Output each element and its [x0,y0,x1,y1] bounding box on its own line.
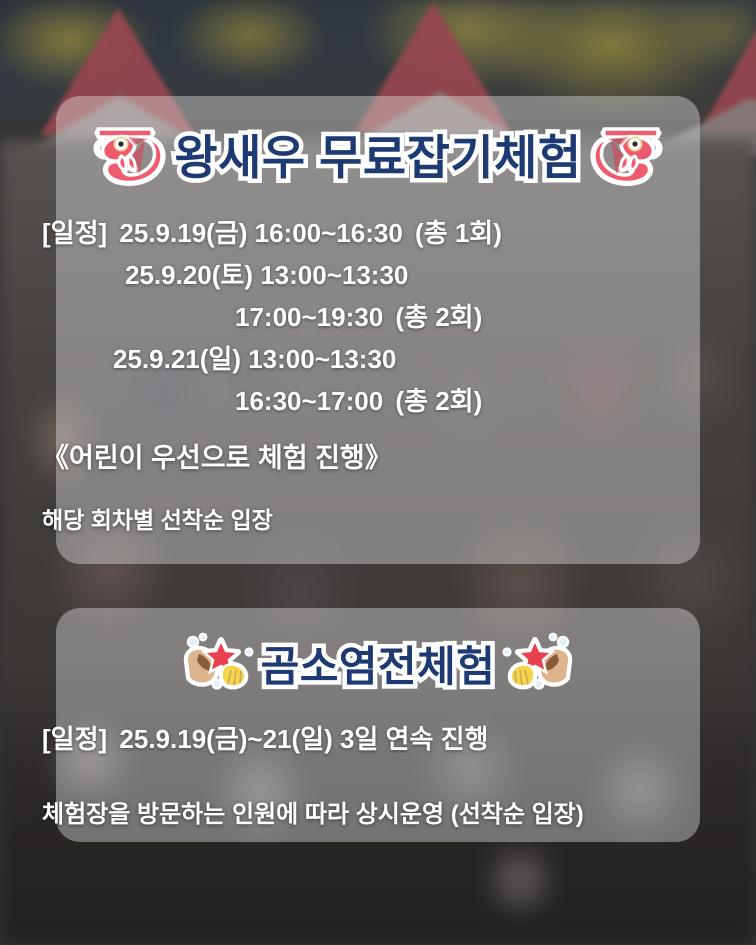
schedule-datetime: 25.9.19(금)~21(일) 3일 연속 진행 [114,724,493,754]
schedule-list-gomso-salt-farm: [일정] 25.9.19(금)~21(일) 3일 연속 진행 체험장을 방문하는… [0,718,756,829]
schedule-datetime: 17:00~19:30 [230,302,388,332]
schedule-label: [일정] [42,724,107,754]
schedule-datetime: 16:30~17:00 [230,386,388,416]
schedule-list-king-shrimp: [일정] 25.9.19(금) 16:00~16:30 (총 1회) 25.9.… [0,212,756,535]
section-note-priority: 《어린이 우선으로 체험 진행》 [0,422,756,475]
section-title-gomso-salt-farm: 곰소염전체험 [0,624,756,702]
shrimp-icon [584,115,668,191]
schedule-label: [일정] [42,218,107,248]
seashell-cluster-icon [497,630,575,696]
shrimp-icon [88,115,172,191]
schedule-line: 25.9.20(토) 13:00~13:30 [0,254,756,296]
schedule-line: [일정] 25.9.19(금) 16:00~16:30 (총 1회) [0,212,756,254]
section-note-entry: 해당 회차별 선착순 입장 [0,475,756,535]
schedule-count: (총 2회) [395,302,482,332]
seashell-cluster-icon [181,630,259,696]
schedule-line: 16:30~17:00 (총 2회) [0,380,756,422]
schedule-line: [일정] 25.9.19(금)~21(일) 3일 연속 진행 [0,718,756,760]
section-note-operation: 체험장을 방문하는 인원에 따라 상시운영 (선착순 입장) [0,760,756,829]
schedule-count: (총 2회) [395,386,482,416]
section-title-king-shrimp: 왕새우 무료잡기체험 [0,112,756,194]
section-title-text: 왕새우 무료잡기체험 [174,119,581,188]
section-title-text: 곰소염전체험 [261,633,496,694]
schedule-datetime: 25.9.19(금) 16:00~16:30 [114,218,407,248]
schedule-count: (총 1회) [415,218,502,248]
schedule-datetime: 25.9.21(일) 13:00~13:30 [108,344,401,374]
schedule-datetime: 25.9.20(토) 13:00~13:30 [120,260,413,290]
festival-poster: 왕새우 무료잡기체험 [0,0,756,945]
schedule-line: 25.9.21(일) 13:00~13:30 [0,338,756,380]
schedule-line: 17:00~19:30 (총 2회) [0,296,756,338]
